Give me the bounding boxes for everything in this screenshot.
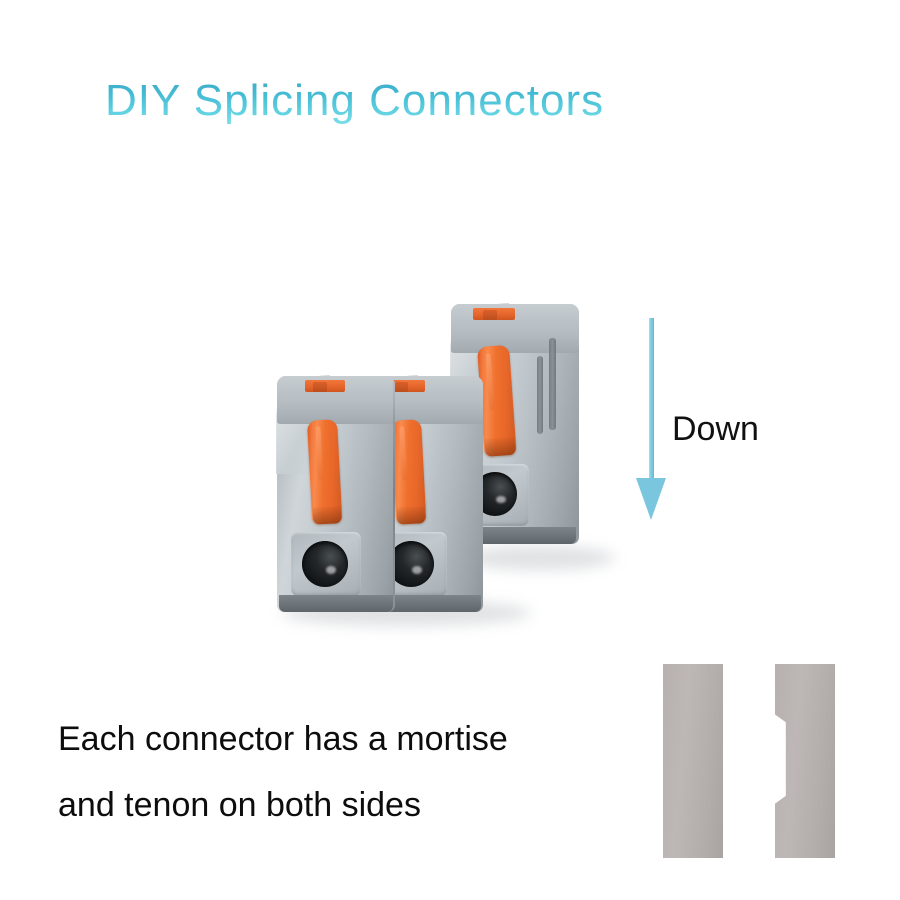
- wire-port: [302, 541, 348, 587]
- dovetail-rail: [537, 356, 543, 434]
- mortise-and-tenon-diagram: [660, 664, 840, 864]
- mortise-piece: [775, 664, 835, 858]
- tenon-piece: [663, 664, 723, 858]
- product-infographic: DIY Splicing Connectors: [0, 0, 900, 900]
- arrow-shaft: [649, 318, 654, 481]
- caption-line-1: Each connector has a mortise: [58, 706, 638, 772]
- top-orange-nub: [313, 382, 327, 392]
- port-glint: [326, 566, 336, 574]
- port-glint: [412, 566, 422, 574]
- lever-tip: [485, 437, 516, 457]
- lever-ridge: [315, 426, 323, 480]
- arrow-head-icon: [636, 478, 666, 520]
- down-arrow-annotation: Down: [630, 318, 810, 523]
- product-image: [265, 300, 595, 630]
- port-glint: [496, 496, 506, 503]
- down-label: Down: [672, 410, 759, 449]
- orange-lever: [307, 419, 342, 524]
- orange-lever: [391, 419, 426, 524]
- page-title: DIY Splicing Connectors: [105, 76, 604, 126]
- connector-seam: [393, 380, 395, 608]
- caption-line-2: and tenon on both sides: [58, 772, 638, 838]
- top-orange-nub: [395, 382, 408, 392]
- wire-port-housing: [291, 532, 361, 596]
- lever-ridge: [486, 353, 495, 410]
- connector-base: [279, 595, 392, 612]
- connector-top-face: [451, 304, 579, 353]
- connector-front-left: [277, 376, 395, 612]
- caption-text: Each connector has a mortise and tenon o…: [58, 706, 638, 838]
- dovetail-rail: [549, 338, 556, 430]
- top-orange-nub: [483, 310, 497, 320]
- lever-tip: [313, 507, 341, 525]
- contact-shadow: [465, 546, 615, 570]
- lever-ridge: [399, 426, 407, 480]
- lever-tip: [397, 507, 425, 525]
